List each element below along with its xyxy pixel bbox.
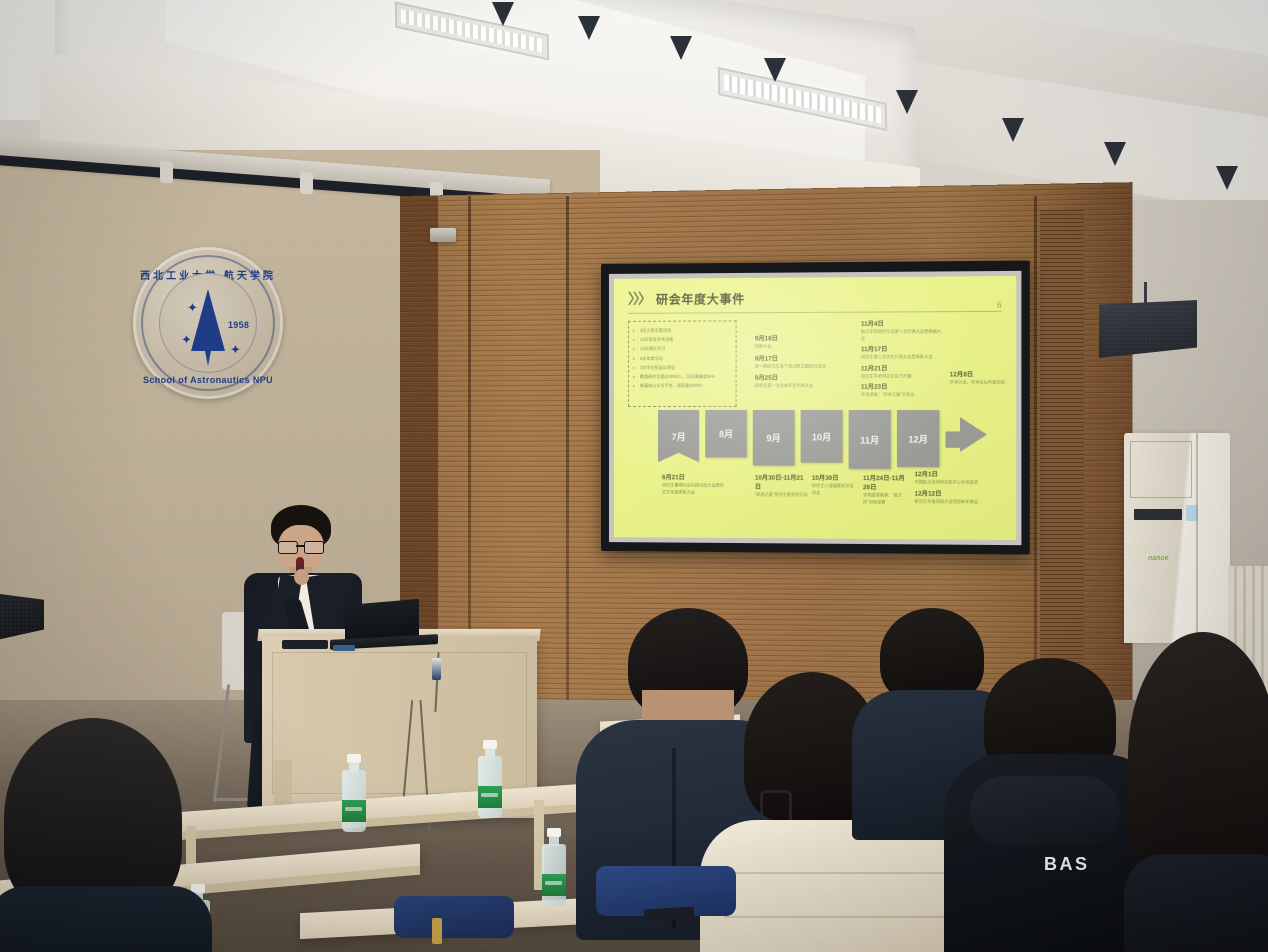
audience-hair [1128, 632, 1268, 882]
timeline-strip: 7月 8月 9月 10月 11月 12月 [658, 410, 987, 469]
rocket-icon [191, 289, 225, 351]
event-date: 9月25日 [755, 374, 855, 383]
ceiling-spotlight-icon [1002, 118, 1024, 142]
presentation-slide: 〉〉〉 研会年度大事件 6 3次大型主题活动 12次研会学术讲座 12次理论学习… [614, 276, 1016, 540]
event-desc: 研究生第二次学生代表大会暨表彰大会 [861, 354, 941, 361]
event-group-november-sports: 11月24日-11月26日 学院篮球联赛、“航天杯”羽毛球赛 [863, 474, 908, 506]
star-icon: ✦ [187, 301, 198, 314]
summary-bullet: 新媒体公众号平台，阅读量15000+ [631, 381, 734, 390]
jacket-print-text: BAS [1044, 854, 1090, 875]
ceiling-spotlight-icon [1216, 166, 1238, 190]
event-desc: 航天学院研究生会第十次代表大会暨换届大会 [861, 329, 941, 343]
event-desc: 学院篮球联赛、“航天杯”羽毛球赛 [863, 492, 908, 506]
summary-bullet: 覆盖研究生超过5000人，活动满意度96% [631, 372, 734, 381]
star-icon: ✦ [230, 343, 241, 356]
rail-clip-icon [160, 160, 173, 183]
event-date: 11月4日 [861, 319, 941, 329]
podium-control-device [282, 640, 328, 649]
event-date: 12月8日 [950, 370, 1014, 379]
emblem-year: 1958 [228, 320, 249, 330]
timeline-month: 11月 [849, 410, 891, 469]
timeline-month: 12月 [897, 410, 939, 467]
slide-title: 研会年度大事件 [656, 290, 745, 308]
event-date: 12月12日 [914, 489, 1012, 499]
coat-hood [970, 776, 1120, 846]
emblem-english-text: School of Astronautics NPU [133, 375, 283, 385]
timeline-month: 7月 [658, 410, 699, 462]
slide-divider [628, 311, 1002, 314]
water-bottle [542, 828, 566, 906]
event-desc: 迎新大会 [755, 343, 855, 350]
ceiling-spotlight-icon [896, 90, 918, 114]
presenter-hand [294, 569, 309, 585]
water-bottle [478, 740, 502, 818]
event-group-december-top: 12月8日 学术沙龙、学术论坛年度总结 [950, 370, 1014, 386]
star-icon: ✦ [181, 333, 192, 346]
event-date: 12月1日 [914, 470, 1012, 480]
wood-panel-seam [566, 196, 569, 771]
event-desc: 研究生年度总结大会暨迎新年晚会 [914, 498, 1012, 505]
event-date: 11月21日 [861, 364, 941, 373]
air-conditioner-unit: nanoe [1124, 433, 1230, 643]
podium-card [333, 645, 355, 651]
coat-quilt-line [724, 872, 944, 874]
timeline-month: 8月 [705, 410, 746, 457]
event-group-december-bottom: 12月1日 中国航天员科研训练中心专场宣讲 12月12日 研究生年度总结大会暨迎… [914, 470, 1012, 505]
summary-bullet: 6次体育活动 [631, 353, 734, 363]
event-date: 11月24日-11月26日 [863, 474, 908, 492]
chevron-right-icon: 〉〉〉 [628, 289, 650, 309]
ceiling-spotlight-icon [670, 36, 692, 60]
event-desc: 中国航天员科研训练中心专场宣讲 [914, 479, 1012, 486]
event-desc: 研究生暑期社会实践动员大会暨研究生年度表彰大会 [662, 482, 724, 496]
screen-mat: 〉〉〉 研会年度大事件 6 3次大型主题活动 12次研会学术讲座 12次理论学习… [609, 271, 1021, 545]
event-desc: 学术沙龙、学术论坛年度总结 [950, 379, 1014, 386]
slide-summary-box: 3次大型主题活动 12次研会学术讲座 12次理论学习 6次体育活动 3次学生权益… [628, 320, 737, 407]
audience-coat [0, 886, 212, 952]
projection-screen: 〉〉〉 研会年度大事件 6 3次大型主题活动 12次研会学术讲座 12次理论学习… [601, 261, 1030, 555]
summary-bullet: 3次大型主题活动 [631, 325, 734, 335]
ac-display-vent [1134, 509, 1182, 520]
event-desc: 研究生第一次全体学生代表大会 [755, 383, 855, 390]
coat-quilt-line [724, 916, 944, 918]
summary-bullet: 3次学生权益反馈会 [631, 362, 734, 371]
water-bottle [342, 754, 366, 832]
power-adapter [432, 658, 441, 680]
event-desc: 研究生心理健康知识宣讲会 [812, 483, 857, 497]
event-date: 10月30日 [812, 474, 857, 483]
ac-eco-logo: nanoe [1148, 555, 1169, 562]
event-date: 11月17日 [861, 345, 941, 354]
summary-bullet: 12次理论学习 [631, 344, 734, 354]
event-group-october-b: 10月30日 研究生心理健康知识宣讲会 [812, 474, 857, 497]
ceiling-projector [430, 228, 456, 242]
ac-front-panel [1130, 441, 1192, 498]
rail-clip-icon [300, 171, 313, 194]
event-desc: 研究生学术科技文化节开幕 [861, 373, 941, 380]
audience-chair-back [394, 896, 514, 938]
audience-coat [1124, 854, 1268, 952]
event-date: 9月16日 [755, 334, 855, 343]
event-group-june: 6月21日 研究生暑期社会实践动员大会暨研究生年度表彰大会 [662, 473, 724, 496]
event-group-september: 9月16日 迎新大会 9月17日 第一期研究生骨干培训暨主题团日活动 9月25日… [755, 334, 855, 390]
slide-header: 〉〉〉 研会年度大事件 [628, 288, 745, 309]
slide-page-number: 6 [997, 301, 1002, 310]
event-date: 9月17日 [755, 354, 855, 363]
ceiling-spotlight-icon [764, 58, 786, 82]
ceiling-spotlight-icon [492, 2, 514, 26]
timeline-month: 9月 [753, 410, 795, 466]
school-emblem: 西北工业大学 航天学院 ✦ ✦ ✦ 1958 School of Astrona… [133, 247, 283, 399]
ceiling-spotlight-icon [578, 16, 600, 40]
timeline-month: 10月 [801, 410, 843, 463]
ac-panel-seam [1196, 433, 1198, 643]
audience-left-back-row [0, 718, 200, 952]
timeline-arrow [945, 410, 987, 452]
event-date: 6月21日 [662, 473, 724, 482]
speaker-grill-icon [1104, 305, 1192, 353]
audience-right-long-hair [1128, 632, 1268, 952]
speaker-grill-icon [0, 598, 39, 636]
event-date: 10月30日-11月21日 [755, 474, 808, 492]
event-desc: “研途之星”系列主题宣传活动 [755, 492, 808, 499]
event-desc: 学术讲座：“学术之路”分享会 [861, 392, 941, 399]
pen [432, 918, 442, 944]
lecture-hall-photo: 西北工业大学 航天学院 ✦ ✦ ✦ 1958 School of Astrona… [0, 0, 1268, 952]
eyeglasses-icon [278, 541, 324, 552]
event-group-november: 11月4日 航天学院研究生会第十次代表大会暨换届大会 11月17日 研究生第二次… [861, 319, 941, 398]
ceiling-spotlight-icon [1104, 142, 1126, 166]
event-desc: 第一期研究生骨干培训暨主题团日活动 [755, 363, 855, 370]
event-group-october-a: 10月30日-11月21日 “研途之星”系列主题宣传活动 [755, 474, 808, 499]
summary-bullet: 12次研会学术讲座 [631, 335, 734, 345]
